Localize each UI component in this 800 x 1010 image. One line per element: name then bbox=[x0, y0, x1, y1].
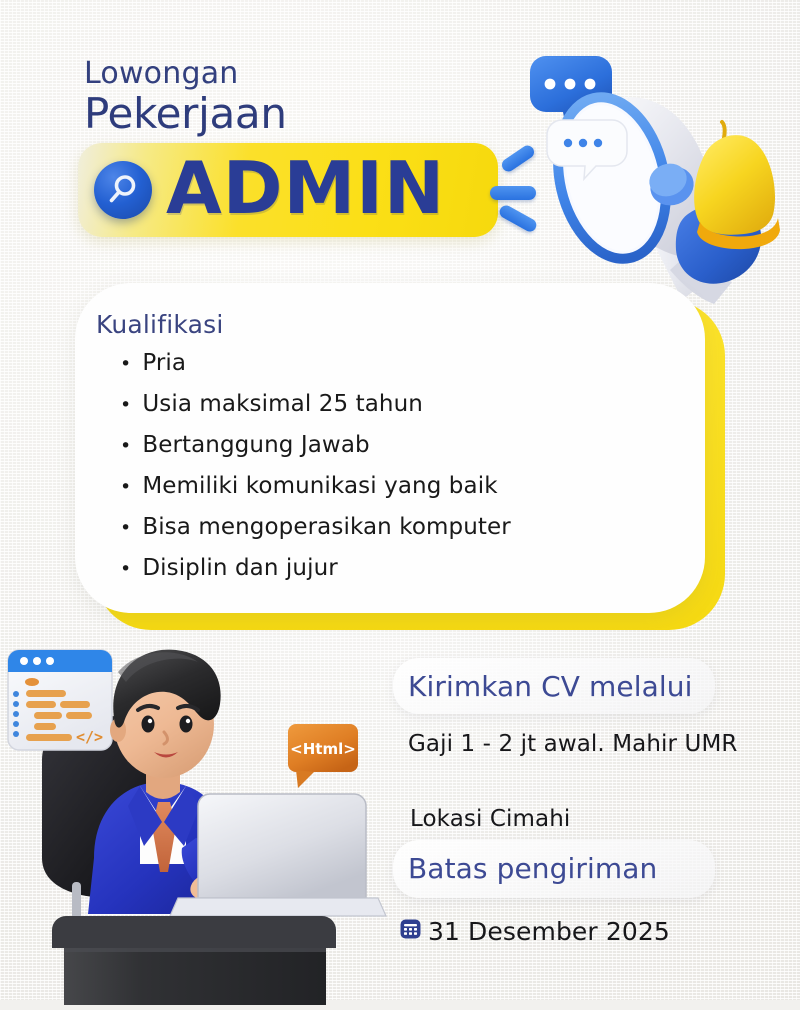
list-item-label: Usia maksimal 25 tahun bbox=[142, 393, 423, 416]
html-badge-icon: <Html> bbox=[288, 724, 358, 788]
salary-text: Gaji 1 - 2 jt awal. Mahir UMR bbox=[408, 733, 737, 756]
list-item-label: Memiliki komunikasi yang baik bbox=[142, 475, 497, 498]
svg-text:<Html>: <Html> bbox=[290, 740, 356, 758]
list-item-label: Bertanggung Jawab bbox=[142, 434, 369, 457]
send-cv-heading: Kirimkan CV melalui bbox=[408, 673, 692, 701]
person-at-desk-illustration: </> <Html> bbox=[0, 620, 410, 1005]
list-item: • Usia maksimal 25 tahun bbox=[120, 393, 680, 416]
bullet-icon: • bbox=[120, 437, 131, 456]
deadline-date-row: 31 Desember 2025 bbox=[400, 918, 670, 944]
headline-small: Lowongan bbox=[84, 58, 287, 90]
svg-text:</>: </> bbox=[76, 728, 103, 746]
headline-large: Pekerjaan bbox=[84, 90, 287, 137]
calendar-icon bbox=[400, 918, 421, 944]
deadline-heading: Batas pengiriman bbox=[408, 855, 657, 883]
list-item-label: Pria bbox=[142, 352, 186, 375]
list-item: • Pria bbox=[120, 352, 680, 375]
location-text: Lokasi Cimahi bbox=[410, 808, 570, 831]
bullet-icon: • bbox=[120, 478, 131, 497]
list-item: • Disiplin dan jujur bbox=[120, 557, 680, 580]
search-icon bbox=[94, 161, 152, 219]
list-item-label: Disiplin dan jujur bbox=[142, 557, 338, 580]
bell-icon bbox=[694, 122, 780, 249]
role-title: ADMIN bbox=[166, 152, 445, 224]
list-item: • Bisa mengoperasikan komputer bbox=[120, 516, 680, 539]
headline-group: Lowongan Pekerjaan bbox=[84, 58, 287, 137]
bullet-icon: • bbox=[120, 355, 131, 374]
megaphone-illustration bbox=[500, 38, 800, 323]
list-item-label: Bisa mengoperasikan komputer bbox=[142, 516, 511, 539]
bullet-icon: • bbox=[120, 560, 131, 579]
qualification-title: Kualifikasi bbox=[96, 310, 223, 339]
bullet-icon: • bbox=[120, 519, 131, 538]
qualification-list: • Pria • Usia maksimal 25 tahun • Bertan… bbox=[120, 352, 680, 598]
deadline-date: 31 Desember 2025 bbox=[428, 919, 670, 944]
code-window-icon: </> bbox=[8, 650, 112, 750]
list-item: • Bertanggung Jawab bbox=[120, 434, 680, 457]
list-item: • Memiliki komunikasi yang baik bbox=[120, 475, 680, 498]
bullet-icon: • bbox=[120, 396, 131, 415]
